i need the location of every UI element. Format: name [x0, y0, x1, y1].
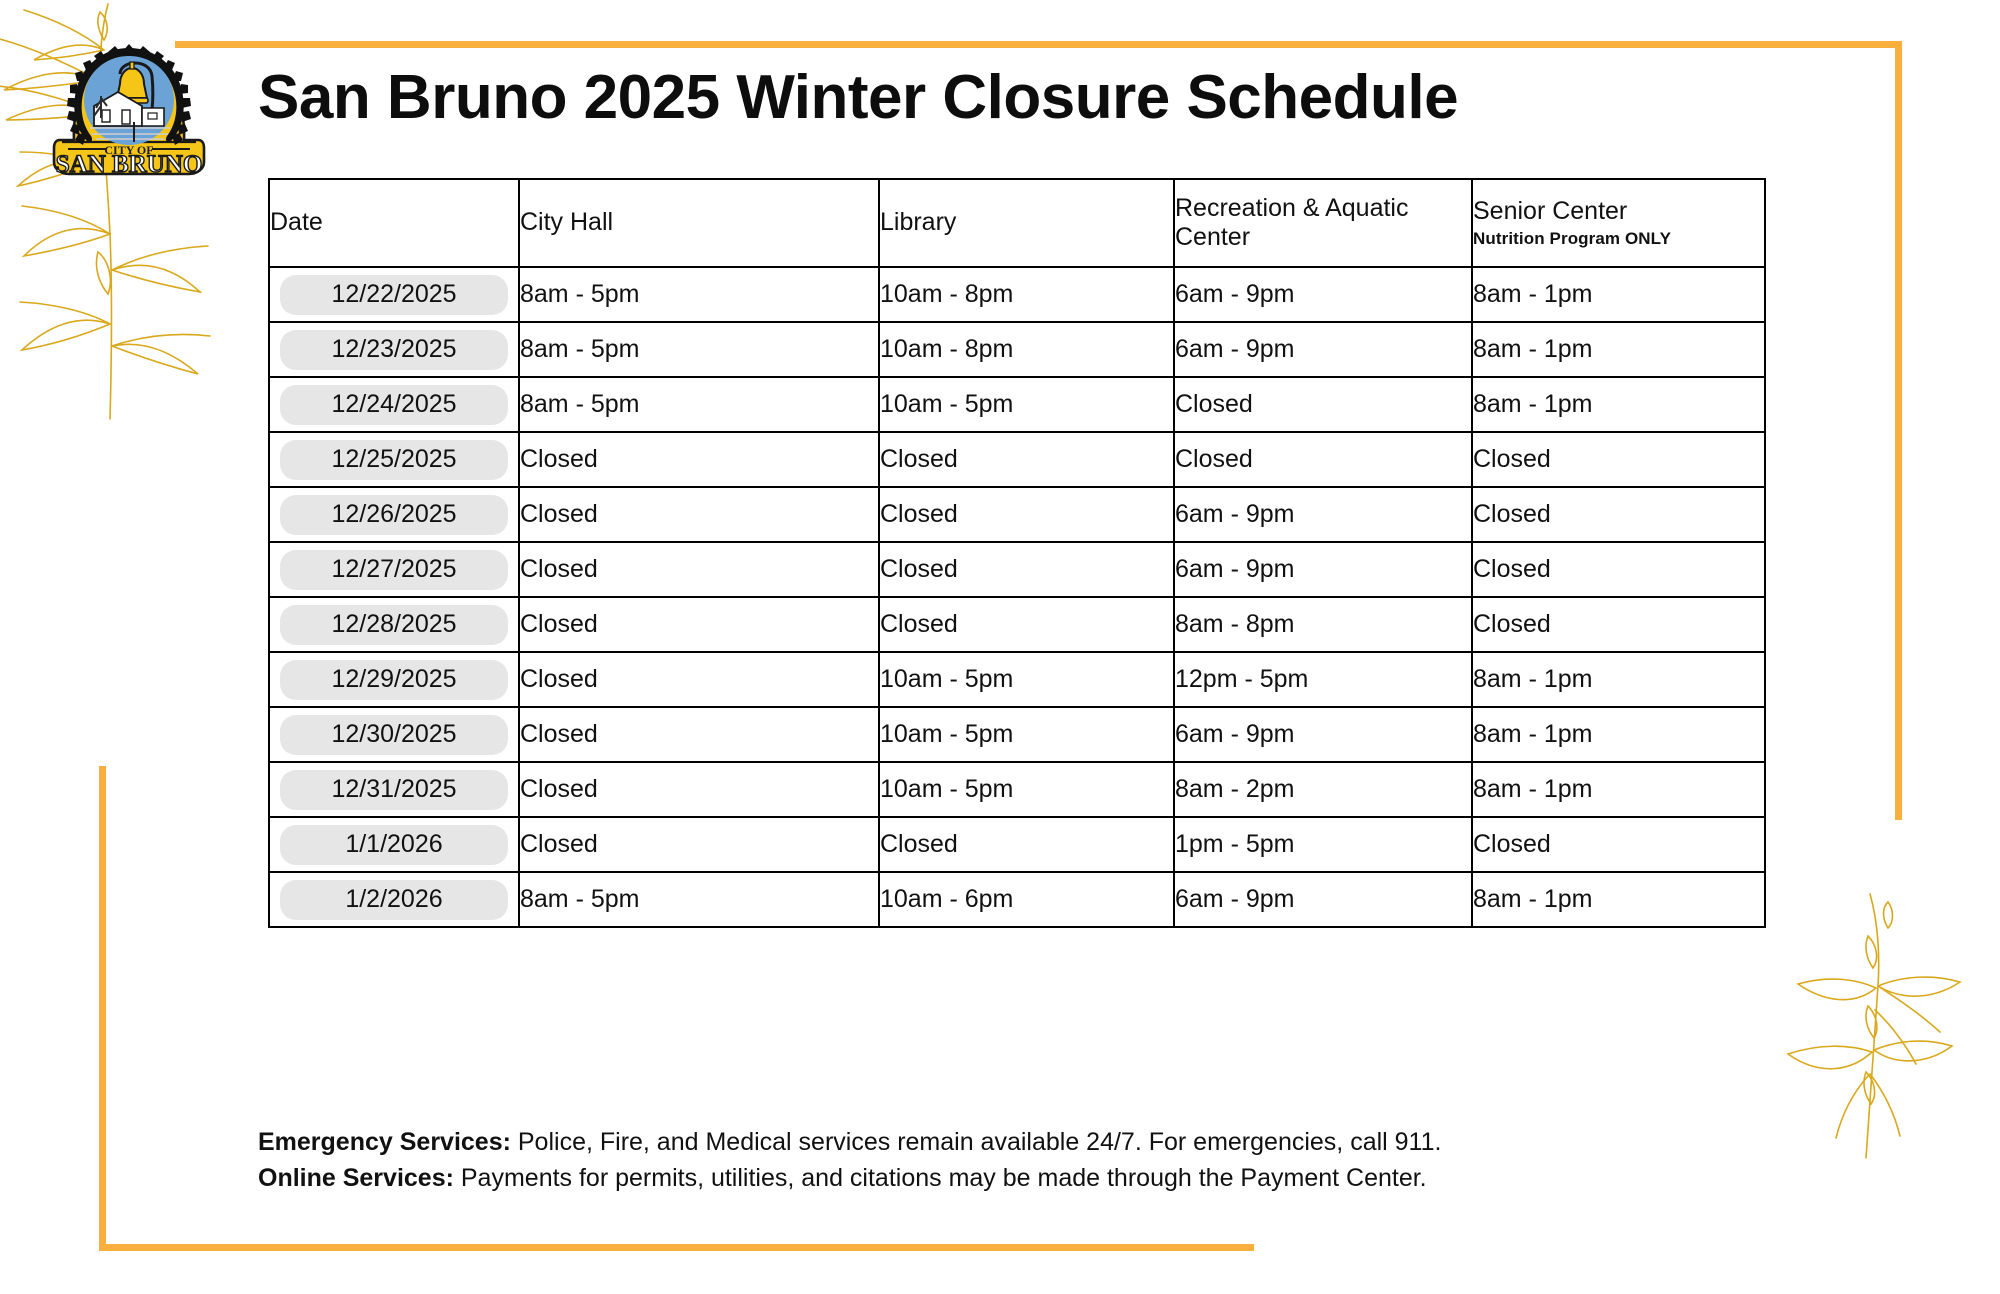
date-pill: 12/24/2025 [280, 385, 508, 425]
table-row: 12/27/2025ClosedClosed6am - 9pmClosed [269, 542, 1765, 597]
schedule-cell-date: 12/30/2025 [269, 707, 519, 762]
date-pill: 12/29/2025 [280, 660, 508, 700]
schedule-cell-library: 10am - 8pm [879, 322, 1174, 377]
schedule-cell-recreation: 8am - 8pm [1174, 597, 1472, 652]
schedule-cell-recreation: 6am - 9pm [1174, 487, 1472, 542]
table-row: 12/24/20258am - 5pm10am - 5pmClosed8am -… [269, 377, 1765, 432]
frame-line-left [99, 766, 106, 1251]
schedule-cell-library: 10am - 5pm [879, 652, 1174, 707]
schedule-cell-city-hall: 8am - 5pm [519, 267, 879, 322]
schedule-cell-senior-center: 8am - 1pm [1472, 707, 1765, 762]
column-header-recreation-label: Recreation & Aquatic Center [1175, 194, 1408, 252]
table-row: 1/2/20268am - 5pm10am - 6pm6am - 9pm8am … [269, 872, 1765, 927]
column-header-senior-center: Senior Center Nutrition Program ONLY [1472, 179, 1765, 267]
online-services-label: Online Services: [258, 1164, 454, 1192]
column-header-date-label: Date [270, 208, 323, 236]
schedule-cell-recreation: 1pm - 5pm [1174, 817, 1472, 872]
schedule-cell-senior-center: Closed [1472, 542, 1765, 597]
schedule-cell-senior-center: 8am - 1pm [1472, 652, 1765, 707]
schedule-cell-recreation: Closed [1174, 432, 1472, 487]
schedule-cell-city-hall: Closed [519, 597, 879, 652]
column-header-date: Date [269, 179, 519, 267]
date-pill: 12/23/2025 [280, 330, 508, 370]
frame-line-top [175, 41, 1902, 48]
schedule-cell-library: 10am - 5pm [879, 377, 1174, 432]
schedule-cell-senior-center: 8am - 1pm [1472, 872, 1765, 927]
emergency-services-label: Emergency Services: [258, 1128, 511, 1156]
schedule-cell-date: 1/2/2026 [269, 872, 519, 927]
schedule-cell-city-hall: 8am - 5pm [519, 377, 879, 432]
schedule-cell-city-hall: Closed [519, 762, 879, 817]
column-header-senior-center-sublabel: Nutrition Program ONLY [1473, 229, 1764, 249]
date-pill: 1/1/2026 [280, 825, 508, 865]
table-row: 12/23/20258am - 5pm10am - 8pm6am - 9pm8a… [269, 322, 1765, 377]
table-row: 12/28/2025ClosedClosed8am - 8pmClosed [269, 597, 1765, 652]
schedule-cell-date: 12/28/2025 [269, 597, 519, 652]
schedule-cell-city-hall: Closed [519, 487, 879, 542]
schedule-cell-city-hall: Closed [519, 707, 879, 762]
column-header-recreation: Recreation & Aquatic Center [1174, 179, 1472, 267]
table-row: 12/25/2025ClosedClosedClosedClosed [269, 432, 1765, 487]
page-title: San Bruno 2025 Winter Closure Schedule [258, 62, 1458, 133]
schedule-cell-library: Closed [879, 817, 1174, 872]
schedule-cell-date: 1/1/2026 [269, 817, 519, 872]
column-header-library-label: Library [880, 208, 956, 236]
schedule-cell-recreation: 6am - 9pm [1174, 542, 1472, 597]
date-pill: 12/30/2025 [280, 715, 508, 755]
schedule-cell-recreation: 6am - 9pm [1174, 872, 1472, 927]
table-row: 12/30/2025Closed10am - 5pm6am - 9pm8am -… [269, 707, 1765, 762]
table-header-row: Date City Hall Library Recreation & Aqua… [269, 179, 1765, 267]
schedule-cell-city-hall: Closed [519, 652, 879, 707]
schedule-cell-library: 10am - 6pm [879, 872, 1174, 927]
date-pill: 1/2/2026 [280, 880, 508, 920]
date-pill: 12/27/2025 [280, 550, 508, 590]
schedule-cell-city-hall: Closed [519, 542, 879, 597]
column-header-senior-center-label: Senior Center [1473, 197, 1627, 225]
emergency-services-note: Emergency Services: Police, Fire, and Me… [258, 1124, 1738, 1160]
date-pill: 12/28/2025 [280, 605, 508, 645]
schedule-cell-senior-center: Closed [1472, 817, 1765, 872]
table-row: 12/29/2025Closed10am - 5pm12pm - 5pm8am … [269, 652, 1765, 707]
schedule-cell-senior-center: Closed [1472, 432, 1765, 487]
table-body: 12/22/20258am - 5pm10am - 8pm6am - 9pm8a… [269, 267, 1765, 927]
table-row: 1/1/2026ClosedClosed1pm - 5pmClosed [269, 817, 1765, 872]
table-row: 12/31/2025Closed10am - 5pm8am - 2pm8am -… [269, 762, 1765, 817]
table-row: 12/26/2025ClosedClosed6am - 9pmClosed [269, 487, 1765, 542]
table-header: Date City Hall Library Recreation & Aqua… [269, 179, 1765, 267]
schedule-cell-senior-center: Closed [1472, 487, 1765, 542]
schedule-cell-recreation: 8am - 2pm [1174, 762, 1472, 817]
winter-closure-schedule-table: Date City Hall Library Recreation & Aqua… [268, 178, 1766, 928]
column-header-city-hall: City Hall [519, 179, 879, 267]
column-header-city-hall-label: City Hall [520, 208, 613, 236]
schedule-cell-city-hall: 8am - 5pm [519, 872, 879, 927]
date-pill: 12/22/2025 [280, 275, 508, 315]
online-services-note: Online Services: Payments for permits, u… [258, 1160, 1738, 1196]
schedule-cell-recreation: 6am - 9pm [1174, 707, 1472, 762]
schedule-cell-senior-center: 8am - 1pm [1472, 377, 1765, 432]
schedule-cell-date: 12/23/2025 [269, 322, 519, 377]
online-services-text: Payments for permits, utilities, and cit… [454, 1164, 1427, 1192]
date-pill: 12/31/2025 [280, 770, 508, 810]
date-pill: 12/25/2025 [280, 440, 508, 480]
frame-line-bottom [99, 1244, 1254, 1251]
schedule-cell-city-hall: 8am - 5pm [519, 322, 879, 377]
schedule-cell-recreation: 12pm - 5pm [1174, 652, 1472, 707]
schedule-cell-date: 12/29/2025 [269, 652, 519, 707]
botanical-branch-icon [1770, 860, 2000, 1160]
frame-line-right [1895, 41, 1902, 820]
date-pill: 12/26/2025 [280, 495, 508, 535]
schedule-cell-city-hall: Closed [519, 817, 879, 872]
schedule-cell-recreation: Closed [1174, 377, 1472, 432]
schedule-cell-recreation: 6am - 9pm [1174, 267, 1472, 322]
schedule-cell-recreation: 6am - 9pm [1174, 322, 1472, 377]
footer-notes: Emergency Services: Police, Fire, and Me… [258, 1124, 1738, 1197]
schedule-cell-library: 10am - 5pm [879, 762, 1174, 817]
schedule-cell-library: Closed [879, 432, 1174, 487]
schedule-cell-date: 12/24/2025 [269, 377, 519, 432]
schedule-cell-library: Closed [879, 542, 1174, 597]
schedule-cell-city-hall: Closed [519, 432, 879, 487]
schedule-cell-senior-center: 8am - 1pm [1472, 762, 1765, 817]
schedule-table-container: Date City Hall Library Recreation & Aqua… [268, 178, 1764, 928]
schedule-cell-senior-center: 8am - 1pm [1472, 267, 1765, 322]
city-of-san-bruno-seal-logo: CITY OF SAN BRUNO [46, 22, 212, 182]
schedule-cell-library: Closed [879, 487, 1174, 542]
schedule-cell-library: 10am - 8pm [879, 267, 1174, 322]
schedule-cell-senior-center: Closed [1472, 597, 1765, 652]
schedule-cell-senior-center: 8am - 1pm [1472, 322, 1765, 377]
schedule-cell-date: 12/27/2025 [269, 542, 519, 597]
table-row: 12/22/20258am - 5pm10am - 8pm6am - 9pm8a… [269, 267, 1765, 322]
schedule-cell-date: 12/22/2025 [269, 267, 519, 322]
schedule-cell-date: 12/26/2025 [269, 487, 519, 542]
column-header-library: Library [879, 179, 1174, 267]
schedule-cell-date: 12/31/2025 [269, 762, 519, 817]
schedule-cell-library: 10am - 5pm [879, 707, 1174, 762]
schedule-cell-library: Closed [879, 597, 1174, 652]
seal-text-san-bruno: SAN BRUNO [56, 151, 203, 178]
emergency-services-text: Police, Fire, and Medical services remai… [511, 1128, 1442, 1156]
schedule-cell-date: 12/25/2025 [269, 432, 519, 487]
